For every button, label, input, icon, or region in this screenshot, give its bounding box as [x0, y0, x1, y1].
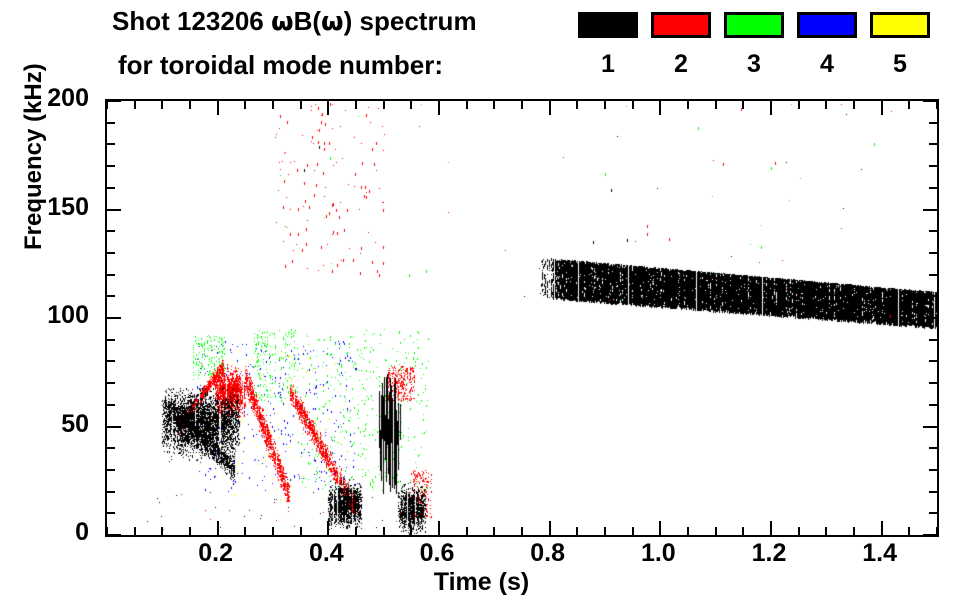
x-tick-minor-1.3 — [825, 527, 827, 535]
y-tick-major-150 — [107, 209, 121, 211]
omega-symbol-2: ω — [321, 7, 344, 37]
x-tick-top-minor-0.7 — [493, 101, 495, 109]
x-tick-top-major-0.6 — [438, 101, 440, 115]
y-tick-minor-170 — [107, 165, 115, 167]
legend-label-n4: 4 — [797, 50, 857, 78]
legend: 12345 — [578, 12, 930, 90]
x-tick-top-minor-0.85 — [576, 101, 578, 109]
x-tick-top-minor-0.05 — [134, 101, 136, 109]
legend-label-n3: 3 — [724, 50, 784, 78]
x-tick-minor-0.15 — [189, 527, 191, 535]
y-tick-minor-140 — [107, 230, 115, 232]
y-tick-minor-30 — [107, 469, 115, 471]
y-tick-minor-60 — [107, 404, 115, 406]
legend-swatch-n2 — [651, 12, 711, 38]
x-tick-major-1.2 — [770, 521, 772, 535]
y-tick-major-200 — [107, 100, 121, 102]
y-tick-right-major-200 — [923, 100, 937, 102]
x-tick-minor-0.95 — [632, 527, 634, 535]
plot-area — [105, 99, 939, 537]
y-tick-minor-190 — [107, 122, 115, 124]
x-tick-major-0.8 — [549, 521, 551, 535]
legend-item-n4: 4 — [797, 12, 857, 38]
x-tick-minor-1.35 — [853, 527, 855, 535]
omega-symbol-1: ω — [271, 7, 294, 37]
x-tick-minor-0.9 — [604, 527, 606, 535]
x-tick-minor-0 — [106, 527, 108, 535]
y-tick-major-50 — [107, 426, 121, 428]
x-tick-top-minor-0.3 — [272, 101, 274, 109]
y-tick-minor-120 — [107, 274, 115, 276]
x-tick-top-minor-0.75 — [521, 101, 523, 109]
x-tick-top-minor-1.5 — [936, 101, 938, 109]
x-tick-top-major-1.2 — [770, 101, 772, 115]
x-tick-top-minor-0.25 — [244, 101, 246, 109]
x-tick-top-minor-0 — [106, 101, 108, 109]
y-tick-right-minor-90 — [929, 339, 937, 341]
y-tick-right-minor-70 — [929, 382, 937, 384]
legend-label-n2: 2 — [651, 50, 711, 78]
x-tick-minor-0.05 — [134, 527, 136, 535]
x-tick-top-minor-1.25 — [798, 101, 800, 109]
y-tick-minor-110 — [107, 295, 115, 297]
x-tick-top-minor-0.95 — [632, 101, 634, 109]
y-tick-minor-160 — [107, 187, 115, 189]
legend-item-n5: 5 — [870, 12, 930, 38]
y-tick-right-minor-160 — [929, 187, 937, 189]
x-tick-top-minor-0.45 — [355, 101, 357, 109]
y-tick-right-major-100 — [923, 317, 937, 319]
y-tick-right-minor-10 — [929, 512, 937, 514]
figure-title-line-1: Shot 123206 ωB(ω) spectrum — [112, 6, 477, 37]
y-tick-minor-130 — [107, 252, 115, 254]
x-tick-top-minor-0.15 — [189, 101, 191, 109]
y-tick-right-minor-190 — [929, 122, 937, 124]
y-tick-right-major-0 — [923, 534, 937, 536]
x-tick-top-minor-0.5 — [383, 101, 385, 109]
x-tick-minor-0.45 — [355, 527, 357, 535]
title-mid: B( — [294, 6, 321, 36]
y-tick-right-minor-60 — [929, 404, 937, 406]
y-tick-major-100 — [107, 317, 121, 319]
y-tick-right-minor-180 — [929, 143, 937, 145]
x-tick-label-0.4: 0.4 — [286, 541, 366, 566]
x-tick-minor-0.7 — [493, 527, 495, 535]
y-tick-right-major-50 — [923, 426, 937, 428]
spectrogram-figure: Shot 123206 ωB(ω) spectrum for toroidal … — [0, 0, 963, 615]
x-tick-label-1.2: 1.2 — [729, 541, 809, 566]
y-axis-label: Frequency (kHz) — [20, 63, 48, 250]
x-tick-top-major-0.4 — [327, 101, 329, 115]
x-tick-major-0.4 — [327, 521, 329, 535]
y-tick-right-minor-40 — [929, 447, 937, 449]
x-tick-top-minor-1.1 — [715, 101, 717, 109]
x-tick-minor-1.15 — [742, 527, 744, 535]
y-tick-right-minor-80 — [929, 360, 937, 362]
x-tick-major-1 — [659, 521, 661, 535]
x-tick-top-minor-1.35 — [853, 101, 855, 109]
x-tick-label-0.6: 0.6 — [397, 541, 477, 566]
x-tick-top-minor-0.1 — [161, 101, 163, 109]
x-tick-top-minor-0.55 — [410, 101, 412, 109]
y-tick-right-minor-30 — [929, 469, 937, 471]
legend-item-n3: 3 — [724, 12, 784, 38]
y-tick-minor-20 — [107, 491, 115, 493]
x-tick-minor-1.5 — [936, 527, 938, 535]
x-tick-minor-0.35 — [300, 527, 302, 535]
x-tick-top-minor-1.45 — [908, 101, 910, 109]
x-tick-minor-0.3 — [272, 527, 274, 535]
x-tick-minor-0.75 — [521, 527, 523, 535]
x-tick-minor-0.65 — [466, 527, 468, 535]
x-tick-minor-1.05 — [687, 527, 689, 535]
x-tick-top-major-1 — [659, 101, 661, 115]
y-tick-right-minor-140 — [929, 230, 937, 232]
x-tick-top-major-1.4 — [881, 101, 883, 115]
legend-label-n1: 1 — [578, 50, 638, 78]
x-tick-top-minor-1.3 — [825, 101, 827, 109]
x-tick-minor-0.55 — [410, 527, 412, 535]
x-tick-minor-0.85 — [576, 527, 578, 535]
x-tick-top-minor-1.15 — [742, 101, 744, 109]
x-tick-top-major-0.8 — [549, 101, 551, 115]
x-tick-minor-1.1 — [715, 527, 717, 535]
x-tick-label-0.2: 0.2 — [176, 541, 256, 566]
legend-swatch-n5 — [870, 12, 930, 38]
spectrogram-canvas — [107, 101, 937, 535]
y-tick-minor-180 — [107, 143, 115, 145]
title-suffix: ) spectrum — [344, 6, 477, 36]
x-tick-top-minor-1.05 — [687, 101, 689, 109]
y-tick-right-minor-130 — [929, 252, 937, 254]
y-tick-right-major-150 — [923, 209, 937, 211]
y-tick-right-minor-110 — [929, 295, 937, 297]
y-tick-minor-80 — [107, 360, 115, 362]
y-tick-right-minor-20 — [929, 491, 937, 493]
x-tick-minor-0.25 — [244, 527, 246, 535]
legend-swatch-n4 — [797, 12, 857, 38]
x-tick-top-minor-0.9 — [604, 101, 606, 109]
legend-swatch-n1 — [578, 12, 638, 38]
legend-item-n2: 2 — [651, 12, 711, 38]
y-tick-major-0 — [107, 534, 121, 536]
y-tick-minor-10 — [107, 512, 115, 514]
y-tick-minor-40 — [107, 447, 115, 449]
x-tick-top-minor-0.65 — [466, 101, 468, 109]
x-axis-label: Time (s) — [0, 568, 963, 597]
x-tick-major-0.6 — [438, 521, 440, 535]
x-tick-minor-1.25 — [798, 527, 800, 535]
x-tick-label-0.8: 0.8 — [508, 541, 588, 566]
x-tick-minor-1.45 — [908, 527, 910, 535]
y-tick-right-minor-120 — [929, 274, 937, 276]
x-tick-top-minor-0.35 — [300, 101, 302, 109]
x-tick-major-1.4 — [881, 521, 883, 535]
figure-title-line-2: for toroidal mode number: — [118, 50, 443, 81]
legend-item-n1: 1 — [578, 12, 638, 38]
y-axis-label-wrap: Frequency (kHz) — [28, 100, 68, 530]
x-tick-top-major-0.2 — [217, 101, 219, 115]
x-tick-label-1.4: 1.4 — [840, 541, 920, 566]
x-tick-major-0.2 — [217, 521, 219, 535]
y-tick-minor-70 — [107, 382, 115, 384]
x-tick-label-1.0: 1.0 — [618, 541, 698, 566]
title-prefix: Shot 123206 — [112, 6, 271, 36]
y-tick-minor-90 — [107, 339, 115, 341]
legend-label-n5: 5 — [870, 50, 930, 78]
x-tick-minor-0.1 — [161, 527, 163, 535]
legend-swatch-n3 — [724, 12, 784, 38]
x-tick-minor-0.5 — [383, 527, 385, 535]
y-tick-right-minor-170 — [929, 165, 937, 167]
